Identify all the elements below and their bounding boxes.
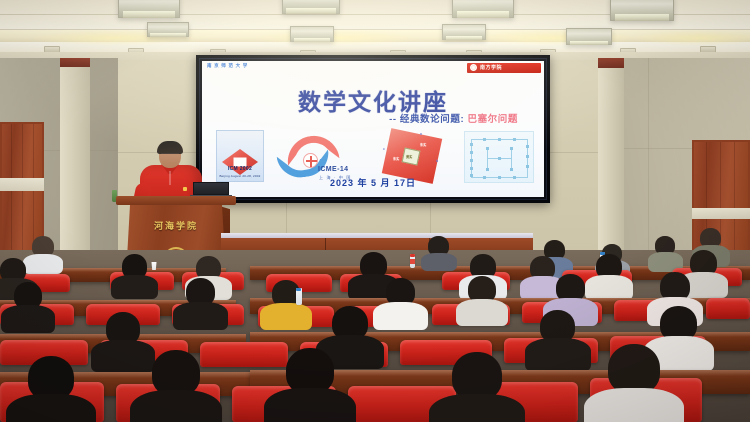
icme-core-icon	[303, 153, 318, 168]
speaker-badge	[183, 187, 187, 191]
podium-front-text: 河海学院	[126, 219, 226, 232]
wall-pillar	[60, 58, 90, 256]
wall-tile-seam	[648, 58, 649, 256]
xiantu-label-a: a	[420, 132, 422, 136]
ceiling-light-fixture	[442, 24, 486, 40]
water-bottle	[296, 288, 302, 305]
speaker-shirt-placket	[169, 171, 171, 185]
xiantu-label-b: b	[436, 159, 438, 163]
lecture-hall-scene: 南 京 师 范 大 学 南方学院 数学文化讲座 -- 经典数论问题: 巴塞尔问题…	[0, 0, 750, 422]
podium-top	[116, 196, 236, 205]
pillar-cap	[60, 58, 90, 67]
university-wordmark-icon: 南 京 师 范 大 学	[207, 63, 248, 69]
college-logo-text: 南方学院	[480, 64, 502, 71]
auditorium-seat[interactable]	[200, 342, 288, 367]
slide-date: 2023 年 5 月 17日	[202, 176, 544, 189]
auditorium-seat[interactable]	[706, 298, 750, 319]
ceiling-light-fixture	[118, 0, 180, 18]
ceiling-light-glow	[250, 30, 420, 46]
ceiling-light-fixture	[610, 0, 674, 21]
ceiling-light-fixture	[147, 22, 189, 37]
university-seal-icon	[470, 64, 477, 71]
xiantu-label-c: c	[383, 147, 385, 151]
ceiling-light-fixture	[452, 0, 514, 18]
left-door-panel-strip	[0, 178, 44, 191]
ceiling-light-glow	[470, 30, 640, 46]
right-door-panel-strip	[692, 208, 750, 219]
xiantu-label-zhushi-1: 朱实	[393, 156, 399, 161]
slide-subtitle-highlight: 巴塞尔问题	[467, 114, 518, 125]
water-bottle	[410, 254, 415, 268]
laptop-screen	[193, 182, 229, 195]
ceiling-light-fixture	[290, 26, 334, 42]
slide-subtitle-prefix: -- 经典数论问题:	[389, 114, 464, 125]
wall-pillar	[598, 58, 624, 256]
xiantu-label-zhushi-2: 朱实	[420, 142, 426, 147]
pillar-cap	[598, 58, 624, 68]
slide-header: 南 京 师 范 大 学 南方学院	[202, 61, 544, 74]
ceiling-light-fixture	[566, 28, 612, 45]
presentation-slide: 南 京 师 范 大 学 南方学院 数学文化讲座 -- 经典数论问题: 巴塞尔问题…	[202, 61, 544, 197]
speaker-glasses-icon	[161, 153, 179, 157]
college-logo-badge: 南方学院	[467, 63, 541, 73]
xiantu-label-huangshi: 黄实	[406, 154, 412, 159]
icme-caption: ICME-14	[318, 166, 348, 173]
ceiling-light-fixture	[282, 0, 340, 14]
slide-subtitle: -- 经典数论问题: 巴塞尔问题	[389, 111, 518, 125]
projection-screen: 南 京 师 范 大 学 南方学院 数学文化讲座 -- 经典数论问题: 巴塞尔问题…	[196, 55, 550, 203]
